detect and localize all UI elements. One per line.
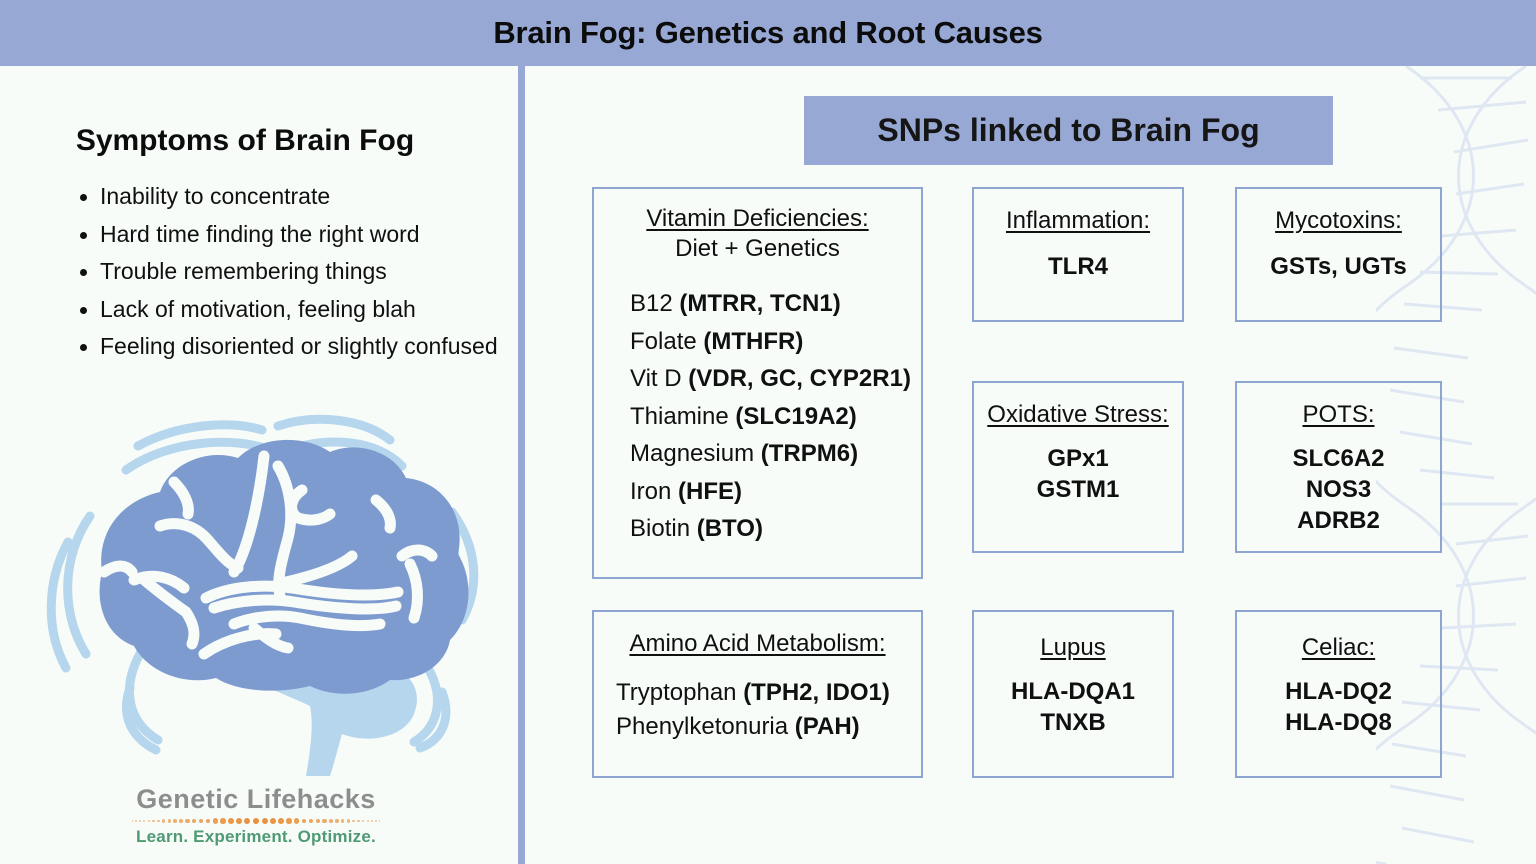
logo-dot: [162, 819, 165, 822]
symptoms-list: Inability to concentrate Hard time findi…: [74, 178, 500, 366]
nutrient-label: B12: [630, 290, 673, 317]
gene-label: NOS3: [1237, 474, 1440, 505]
gene-item: Biotin (BTO): [630, 510, 921, 548]
snp-box-celiac: Celiac: HLA-DQ2 HLA-DQ8: [1235, 610, 1442, 778]
logo-dot: [294, 818, 299, 823]
snps-section-title: SNPs linked to Brain Fog: [877, 112, 1259, 149]
logo-dot: [135, 820, 136, 821]
snps-section-header: SNPs linked to Brain Fog: [804, 96, 1333, 165]
snp-box-lupus: Lupus HLA-DQA1 TNXB: [972, 610, 1174, 778]
logo-dot: [185, 819, 189, 823]
logo-dot: [262, 818, 268, 824]
gene-item: Folate (MTHFR): [630, 323, 921, 361]
nutrient-label: Biotin: [630, 515, 690, 542]
logo-dot: [335, 819, 339, 823]
gene-label: GSTs, UGTs: [1237, 251, 1440, 282]
list-item: Inability to concentrate: [100, 178, 500, 216]
logo-dot: [347, 819, 350, 822]
logo-dot: [278, 818, 284, 824]
snp-box-amino-acid-metabolism: Amino Acid Metabolism: Tryptophan (TPH2,…: [592, 610, 923, 778]
gene-item-list: HLA-DQA1 TNXB: [974, 676, 1172, 738]
box-header: Lupus: [974, 612, 1172, 662]
gene-item: Vit D (VDR, GC, CYP2R1): [630, 360, 921, 398]
gene-item-list: HLA-DQ2 HLA-DQ8: [1237, 676, 1440, 738]
gene-label: HLA-DQ8: [1237, 707, 1440, 738]
box-title: Oxidative Stress:: [974, 401, 1182, 429]
box-header: Inflammation:: [974, 189, 1182, 235]
logo-dot: [316, 819, 320, 823]
gene-label: (VDR, GC, CYP2R1): [688, 365, 911, 392]
snps-panel: SNPs linked to Brain Fog Vitamin Deficie…: [525, 66, 1536, 864]
gene-item-list: B12 (MTRR, TCN1) Folate (MTHFR) Vit D (V…: [594, 285, 921, 548]
gene-item: Tryptophan (TPH2, IDO1): [616, 676, 921, 710]
box-header: Amino Acid Metabolism:: [594, 612, 921, 658]
logo-dot: [199, 819, 204, 824]
gene-item: Phenylketonuria (PAH): [616, 710, 921, 744]
logo-dot: [168, 819, 171, 822]
gene-item-list: GSTs, UGTs: [1237, 251, 1440, 282]
logo-dot: [309, 819, 314, 824]
logo-dot: [236, 818, 242, 824]
logo-dot: [371, 820, 373, 822]
logo-dot: [192, 819, 196, 823]
nutrient-label: Vit D: [630, 365, 682, 392]
gene-label: (TPH2, IDO1): [743, 679, 890, 706]
box-title: Celiac:: [1237, 634, 1440, 662]
logo-dot: [329, 819, 333, 823]
gene-label: GSTM1: [974, 474, 1182, 505]
page-title: Brain Fog: Genetics and Root Causes: [493, 15, 1042, 51]
symptoms-panel: Symptoms of Brain Fog Inability to conce…: [0, 66, 518, 864]
gene-item-list: TLR4: [974, 251, 1182, 282]
box-header: POTS:: [1237, 383, 1440, 429]
logo-dot: [152, 820, 155, 823]
gene-label: (MTRR, TCN1): [679, 290, 840, 317]
logo-dot: [322, 819, 326, 823]
gene-item-list: Tryptophan (TPH2, IDO1) Phenylketonuria …: [594, 676, 921, 744]
box-title: Vitamin Deficiencies:: [594, 205, 921, 233]
nutrient-label: Phenylketonuria: [616, 713, 788, 740]
gene-item-list: SLC6A2 NOS3 ADRB2: [1237, 443, 1440, 536]
gene-label: (HFE): [678, 478, 742, 505]
nutrient-label: Folate: [630, 328, 697, 355]
logo-dot: [352, 820, 355, 823]
gene-label: ADRB2: [1237, 505, 1440, 536]
logo-dot: [139, 820, 141, 822]
list-item: Feeling disoriented or slightly confused: [100, 328, 500, 366]
snp-box-pots: POTS: SLC6A2 NOS3 ADRB2: [1235, 381, 1442, 553]
logo-dot: [132, 820, 133, 821]
logo-dot: [143, 820, 145, 822]
logo-dot: [173, 819, 177, 823]
logo-dot: [362, 820, 364, 822]
header-bar: Brain Fog: Genetics and Root Causes: [0, 0, 1536, 66]
logo-dot: [213, 818, 218, 823]
symptoms-heading: Symptoms of Brain Fog: [0, 124, 490, 158]
nutrient-label: Tryptophan: [616, 679, 737, 706]
nutrient-label: Thiamine: [630, 403, 729, 430]
logo-dot: [302, 819, 307, 824]
gene-label: HLA-DQ2: [1237, 676, 1440, 707]
box-header: Mycotoxins:: [1237, 189, 1440, 235]
gene-item: Magnesium (TRPM6): [630, 435, 921, 473]
logo-dot: [253, 818, 259, 824]
nutrient-label: Iron: [630, 478, 671, 505]
logo-dot: [341, 819, 344, 822]
snp-box-vitamin-deficiencies: Vitamin Deficiencies: Diet + Genetics B1…: [592, 187, 923, 579]
box-title: POTS:: [1237, 401, 1440, 429]
gene-label: TNXB: [974, 707, 1172, 738]
gene-label: (SLC19A2): [735, 403, 856, 430]
nutrient-label: Magnesium: [630, 440, 754, 467]
box-subtitle: Diet + Genetics: [594, 235, 921, 263]
gene-item: Iron (HFE): [630, 473, 921, 511]
logo-dot: [357, 820, 360, 823]
brand-logo: Genetic Lifehacks Learn. Experiment. Opt…: [0, 784, 512, 847]
snp-box-mycotoxins: Mycotoxins: GSTs, UGTs: [1235, 187, 1442, 322]
logo-dot: [157, 820, 160, 823]
box-header: Oxidative Stress:: [974, 383, 1182, 429]
gene-label: TLR4: [974, 251, 1182, 282]
box-header: Celiac:: [1237, 612, 1440, 662]
gene-label: (PAH): [795, 713, 860, 740]
logo-dot: [244, 818, 250, 824]
logo-dot: [286, 818, 291, 823]
brain-icon: [38, 396, 500, 778]
list-item: Trouble remembering things: [100, 253, 500, 291]
list-item: Lack of motivation, feeling blah: [100, 291, 500, 329]
gene-label: SLC6A2: [1237, 443, 1440, 474]
logo-dot-divider: [0, 816, 512, 826]
logo-wordmark: Genetic Lifehacks: [0, 784, 512, 815]
box-title: Amino Acid Metabolism:: [594, 630, 921, 658]
box-title: Mycotoxins:: [1237, 207, 1440, 235]
gene-label: (MTHFR): [703, 328, 803, 355]
snp-box-oxidative-stress: Oxidative Stress: GPx1 GSTM1: [972, 381, 1184, 553]
box-header: Vitamin Deficiencies: Diet + Genetics: [594, 189, 921, 263]
gene-item: B12 (MTRR, TCN1): [630, 285, 921, 323]
logo-dot: [220, 818, 225, 823]
snp-box-inflammation: Inflammation: TLR4: [972, 187, 1184, 322]
gene-label: HLA-DQA1: [974, 676, 1172, 707]
gene-item: Thiamine (SLC19A2): [630, 398, 921, 436]
logo-dot: [206, 819, 211, 824]
logo-dot: [367, 820, 369, 822]
box-title: Lupus: [974, 634, 1172, 662]
logo-dot: [228, 818, 234, 824]
gene-label: (TRPM6): [761, 440, 858, 467]
logo-dot: [379, 820, 380, 821]
gene-item-list: GPx1 GSTM1: [974, 443, 1182, 505]
gene-label: (BTO): [697, 515, 763, 542]
logo-dot: [148, 820, 150, 822]
logo-dot: [179, 819, 183, 823]
box-title: Inflammation:: [974, 207, 1182, 235]
list-item: Hard time finding the right word: [100, 216, 500, 254]
logo-tagline: Learn. Experiment. Optimize.: [0, 827, 512, 847]
panel-divider: [518, 66, 525, 864]
logo-dot: [375, 820, 376, 821]
gene-label: GPx1: [974, 443, 1182, 474]
logo-dot: [270, 818, 276, 824]
